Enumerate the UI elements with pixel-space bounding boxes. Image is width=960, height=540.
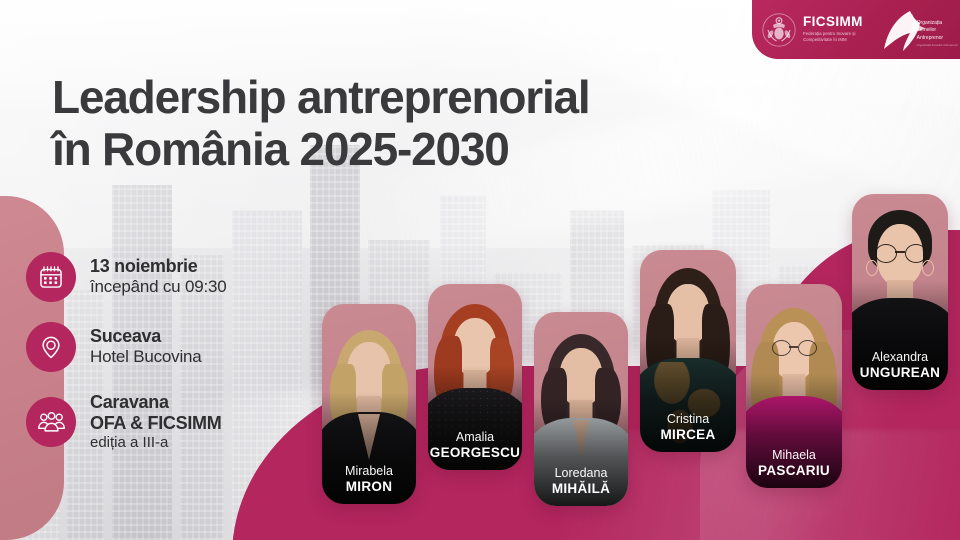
speaker-card[interactable]: Amalia GEORGESCU xyxy=(428,284,522,470)
speaker-last-name: UNGUREAN xyxy=(852,365,948,381)
speaker-last-name: MIRON xyxy=(322,479,416,495)
speaker-card[interactable]: Cristina MIRCEA xyxy=(640,250,736,452)
speaker-last-name: MIRCEA xyxy=(640,427,736,443)
speaker-name: Cristina MIRCEA xyxy=(640,412,736,443)
speaker-name: Alexandra UNGUREAN xyxy=(852,350,948,381)
speaker-last-name: PASCARIU xyxy=(746,463,842,479)
speaker-card[interactable]: Mihaela PASCARIU xyxy=(746,284,842,488)
speaker-name: Mirabela MIRON xyxy=(322,464,416,495)
speaker-first-name: Amalia xyxy=(428,430,522,445)
speaker-first-name: Mirabela xyxy=(322,464,416,479)
speaker-first-name: Alexandra xyxy=(852,350,948,365)
speaker-first-name: Mihaela xyxy=(746,448,842,463)
speaker-name: Amalia GEORGESCU xyxy=(428,430,522,461)
speaker-last-name: GEORGESCU xyxy=(428,445,522,461)
speaker-first-name: Loredana xyxy=(534,466,628,481)
speakers-gallery: Mirabela MIRON Amalia GEORGESCU xyxy=(0,0,960,540)
event-poster: FICSIMM Federația pentru Inovare și Comp… xyxy=(0,0,960,540)
speaker-name: Mihaela PASCARIU xyxy=(746,448,842,479)
speaker-card[interactable]: Loredana MIHĂILĂ xyxy=(534,312,628,506)
speaker-name: Loredana MIHĂILĂ xyxy=(534,466,628,497)
speaker-first-name: Cristina xyxy=(640,412,736,427)
speaker-card[interactable]: Alexandra UNGUREAN xyxy=(852,194,948,390)
speaker-card[interactable]: Mirabela MIRON xyxy=(322,304,416,504)
speaker-last-name: MIHĂILĂ xyxy=(534,481,628,497)
